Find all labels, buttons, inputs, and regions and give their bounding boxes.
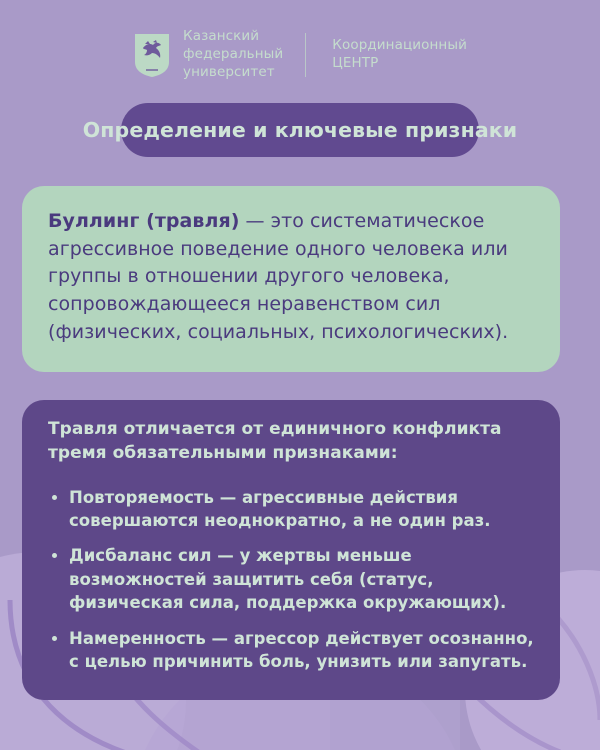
header-divider [305,33,306,77]
signs-list: Повторяемость — агрессивные действия сов… [48,486,536,674]
university-name: Казанский федеральный университет [183,28,283,81]
coordination-center-name: Координационный ЦЕНТР [332,37,467,73]
bullet-icon [52,553,57,558]
definition-term: Буллинг (травля) [48,210,239,232]
definition-dash: — [239,210,270,232]
slide-root: Казанский федеральный университет Коорди… [0,0,600,750]
definition-text: Буллинг (травля) — это систематическое а… [48,208,534,347]
sign-item-text: Дисбаланс сил — у жертвы меньше возможно… [69,546,506,612]
list-item: Повторяемость — агрессивные действия сов… [48,486,536,533]
signs-card: Травля отличается от единичного конфликт… [22,400,560,700]
sign-item-text: Намеренность — агрессор действует осозна… [69,629,534,671]
signs-heading: Травля отличается от единичного конфликт… [48,418,536,466]
sign-item-text: Повторяемость — агрессивные действия сов… [69,488,491,530]
list-item: Намеренность — агрессор действует осозна… [48,627,536,674]
page-title-pill: Определение и ключевые признаки [121,103,479,157]
list-item: Дисбаланс сил — у жертвы меньше возможно… [48,544,536,614]
logo-lockup: Казанский федеральный университет Коорди… [133,28,467,81]
bullet-icon [52,495,57,500]
page-title: Определение и ключевые признаки [83,118,518,142]
kfu-shield-zilant-crest-icon [133,32,171,78]
bullet-icon [52,636,57,641]
header-logo-lockup: Казанский федеральный университет Коорди… [0,28,600,81]
definition-card: Буллинг (травля) — это систематическое а… [22,186,560,372]
